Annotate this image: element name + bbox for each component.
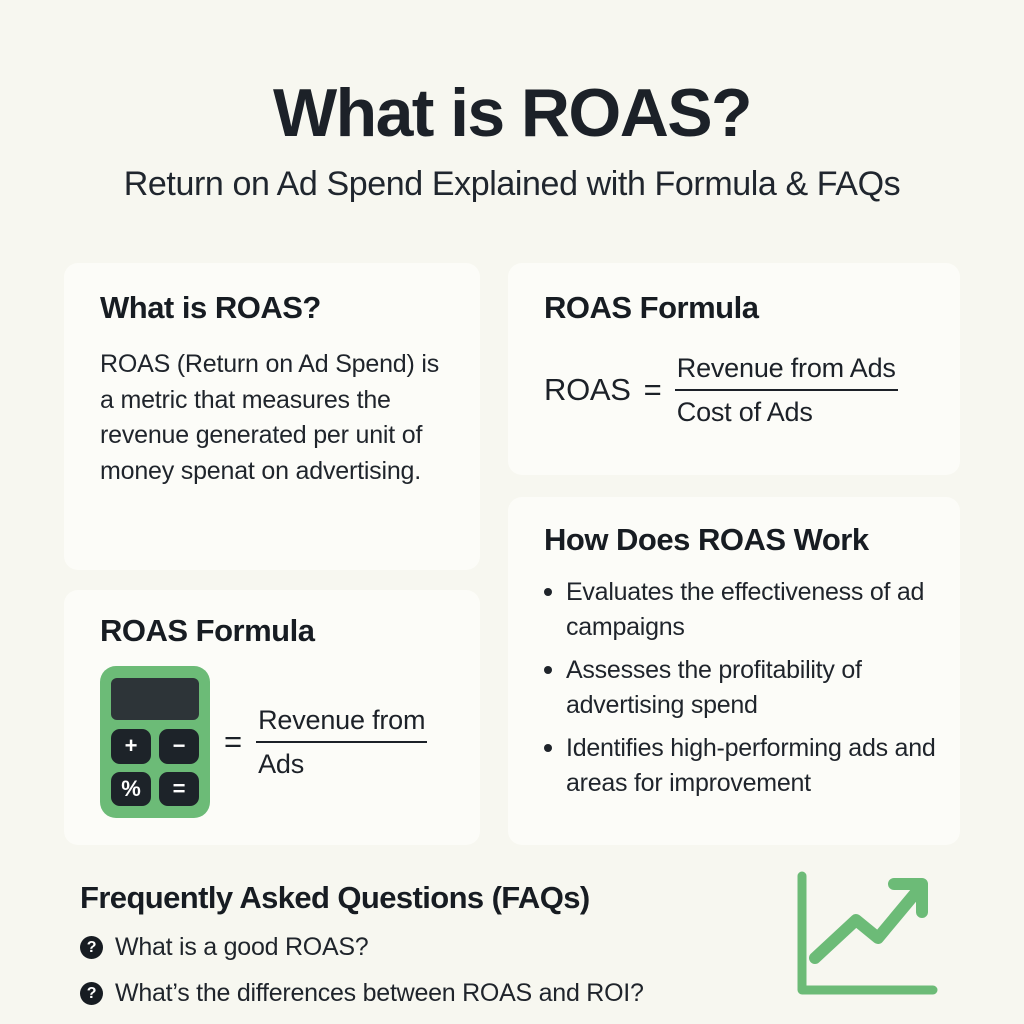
formula-left-side: ROAS (544, 372, 631, 408)
calculator-icon: + − % = (100, 666, 210, 818)
faq-item-label: What’s the differences between ROAS and … (115, 979, 644, 1008)
calculator-key-minus: − (159, 729, 199, 764)
page-title: What is ROAS? (0, 78, 1024, 149)
list-item: Identifies high-performing ads and areas… (544, 731, 942, 800)
bullet-dot-icon (544, 744, 552, 752)
faq-item-label: What is a good ROAS? (115, 933, 368, 962)
upward-trend-chart-icon (788, 868, 948, 1008)
page-subtitle: Return on Ad Spend Explained with Formul… (0, 165, 1024, 204)
list-item-label: Identifies high-performing ads and areas… (566, 731, 942, 800)
bullet-dot-icon (544, 588, 552, 596)
card-how-does-roas-work: How Does ROAS Work Evaluates the effecti… (508, 497, 960, 845)
formula-equals-sign: = (224, 724, 242, 760)
bullet-dot-icon (544, 666, 552, 674)
benefits-bullet-list: Evaluates the effectiveness of ad campai… (544, 575, 942, 800)
formula-equals-sign: = (644, 372, 662, 408)
fraction-numerator: Revenue from Ads (675, 351, 898, 389)
fraction-numerator: Revenue from (256, 703, 427, 741)
card-title: How Does ROAS Work (544, 523, 942, 557)
card-title: ROAS Formula (100, 614, 460, 648)
fraction-denominator: Cost of Ads (675, 391, 815, 430)
formula-fraction: Revenue from Ads (256, 703, 427, 781)
card-title: ROAS Formula (544, 291, 936, 325)
page-header: What is ROAS? Return on Ad Spend Explain… (0, 0, 1024, 204)
list-item-label: Evaluates the effectiveness of ad campai… (566, 575, 942, 644)
card-what-is-roas: What is ROAS? ROAS (Return on Ad Spend) … (64, 263, 480, 570)
formula-fraction: Revenue from Ads Cost of Ads (675, 351, 898, 429)
list-item: Assesses the profitability of advertisin… (544, 653, 942, 722)
card-roas-formula-right: ROAS Formula ROAS = Revenue from Ads Cos… (508, 263, 960, 475)
card-body-text: ROAS (Return on Ad Spend) is a metric th… (100, 347, 454, 489)
list-item: Evaluates the effectiveness of ad campai… (544, 575, 942, 644)
faq-section: Frequently Asked Questions (FAQs) ? What… (80, 880, 770, 1008)
question-mark-icon: ? (80, 982, 103, 1005)
fraction-denominator: Ads (256, 743, 306, 782)
faq-item[interactable]: ? What’s the differences between ROAS an… (80, 979, 770, 1008)
calculator-key-equals: = (159, 772, 199, 807)
card-title: What is ROAS? (100, 291, 454, 325)
faq-section-title: Frequently Asked Questions (FAQs) (80, 880, 770, 916)
calculator-formula-row: + − % = = Revenue from Ads (100, 666, 460, 818)
list-item-label: Assesses the profitability of advertisin… (566, 653, 942, 722)
calculator-key-plus: + (111, 729, 151, 764)
question-mark-icon: ? (80, 936, 103, 959)
growth-chart-svg (788, 868, 948, 1008)
roas-formula-equation: ROAS = Revenue from Ads Cost of Ads (544, 351, 936, 429)
calculator-screen (111, 678, 199, 720)
card-roas-formula-calculator: ROAS Formula + − % = = Revenue from Ads (64, 590, 480, 845)
calculator-keypad: + − % = (111, 729, 199, 806)
faq-item[interactable]: ? What is a good ROAS? (80, 933, 770, 962)
calculator-key-percent: % (111, 772, 151, 807)
